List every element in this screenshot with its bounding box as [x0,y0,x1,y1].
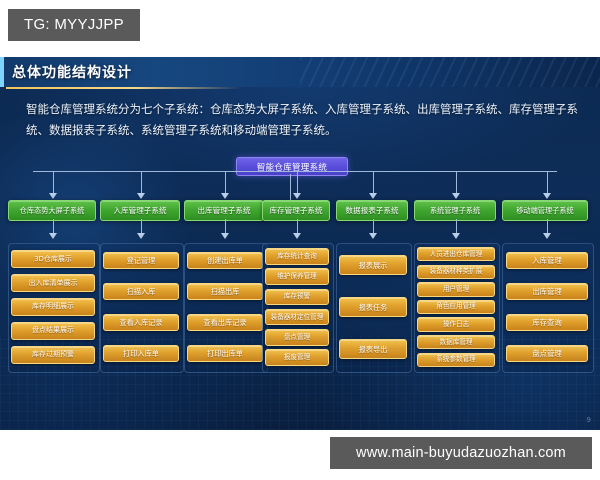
connector-bus-to-subsystem [373,171,374,194]
leaf-item[interactable]: 查看入库记录 [103,314,179,331]
leaf-item[interactable]: 人员进出仓库管理 [417,247,495,261]
leaf-item[interactable]: 登记管理 [103,252,179,269]
leaf-item[interactable]: 报表导出 [339,339,407,359]
leaf-item[interactable]: 盘点管理 [506,345,588,362]
arrow-down-icon [293,193,301,199]
leaf-item[interactable]: 打印入库单 [103,345,179,362]
subsystem-box-4[interactable]: 库存管理子系统 [262,200,330,221]
slide-description: 智能仓库管理系统分为七个子系统：仓库态势大屏子系统、入库管理子系统、出库管理子系… [26,99,578,141]
leaf-item[interactable]: 扫描出库 [187,283,263,300]
leaf-item[interactable]: 装备器材种类扩展 [417,265,495,279]
telegram-watermark: TG: MYYJJPP [8,9,140,41]
arrow-down-icon [369,233,377,239]
connector-bus-to-subsystem [225,171,226,194]
leaf-item[interactable]: 用户管理 [417,282,495,296]
leaf-item[interactable]: 库存过期预警 [11,346,95,364]
connector-subsystem-to-panel [547,219,548,234]
connector-bus-to-subsystem [53,171,54,194]
subsystem-box-7[interactable]: 移动端管理子系统 [502,200,588,221]
arrow-down-icon [452,193,460,199]
subsystem-box-2[interactable]: 入库管理子系统 [100,200,180,221]
site-watermark: www.main-buyudazuozhan.com [330,437,592,469]
arrow-down-icon [49,233,57,239]
leaf-item[interactable]: 打印出库单 [187,345,263,362]
leaf-item[interactable]: 库存明细展示 [11,298,95,316]
leaf-item[interactable]: 装备器材定位管理 [265,309,329,326]
connector-root-vertical [290,174,291,201]
subsystem-box-6[interactable]: 系统管理子系统 [414,200,496,221]
leaf-item[interactable]: 出库管理 [506,283,588,300]
connector-subsystem-to-panel [53,219,54,234]
connector-subsystem-to-panel [456,219,457,234]
arrow-down-icon [293,233,301,239]
leaf-item[interactable]: 库存预警 [265,289,329,306]
leaf-item[interactable]: 角色应用管理 [417,300,495,314]
leaf-item[interactable]: 3D仓库展示 [11,250,95,268]
arrow-down-icon [369,193,377,199]
leaf-item[interactable]: 系统参数管理 [417,353,495,367]
slide-page-number: 9 [587,416,591,424]
connector-subsystem-to-panel [225,219,226,234]
leaf-item[interactable]: 维护保养管理 [265,268,329,285]
leaf-item[interactable]: 盘点管理 [265,329,329,346]
presentation-slide: 总体功能结构设计 智能仓库管理系统分为七个子系统：仓库态势大屏子系统、入库管理子… [0,57,600,430]
leaf-item[interactable]: 查看出库记录 [187,314,263,331]
arrow-down-icon [137,233,145,239]
page-title: 总体功能结构设计 [12,62,132,82]
leaf-item[interactable]: 库存统计查询 [265,248,329,265]
connector-subsystem-to-panel [297,219,298,234]
subsystem-box-1[interactable]: 仓库态势大屏子系统 [8,200,96,221]
arrow-down-icon [221,233,229,239]
connector-subsystem-to-panel [141,219,142,234]
leaf-item[interactable]: 盘点结果展示 [11,322,95,340]
subsystem-box-5[interactable]: 数据报表子系统 [336,200,408,221]
subsystem-row: 仓库态势大屏子系统入库管理子系统出库管理子系统库存管理子系统数据报表子系统系统管… [0,200,600,220]
slide-title-bar: 总体功能结构设计 [0,57,600,87]
leaf-item[interactable]: 报表任务 [339,297,407,317]
connector-bus-to-subsystem [547,171,548,194]
connector-bus-to-subsystem [141,171,142,194]
arrow-down-icon [221,193,229,199]
leaf-item[interactable]: 库存查询 [506,314,588,331]
arrow-down-icon [543,193,551,199]
leaf-item[interactable]: 创建出库单 [187,252,263,269]
leaf-item[interactable]: 入库管理 [506,252,588,269]
arrow-down-icon [137,193,145,199]
leaf-item[interactable]: 报表展示 [339,255,407,275]
subsystem-box-3[interactable]: 出库管理子系统 [184,200,264,221]
leaf-item[interactable]: 扫描入库 [103,283,179,300]
arrow-down-icon [543,233,551,239]
connector-bus-to-subsystem [297,171,298,194]
title-bar-pattern [300,57,600,87]
connector-bus-to-subsystem [456,171,457,194]
leaf-item[interactable]: 数据库管理 [417,335,495,349]
leaf-item[interactable]: 报废管理 [265,349,329,366]
diagram-root-node: 智能仓库管理系统 [236,157,348,176]
connector-horizontal-bus [33,171,557,172]
title-underline [6,87,241,89]
title-accent-bar [0,57,4,87]
leaf-item[interactable]: 操作日志 [417,317,495,331]
arrow-down-icon [49,193,57,199]
arrow-down-icon [452,233,460,239]
connector-subsystem-to-panel [373,219,374,234]
leaf-item[interactable]: 出入库清单展示 [11,274,95,292]
screenshot-root: TG: MYYJJPP 总体功能结构设计 智能仓库管理系统分为七个子系统：仓库态… [0,0,600,480]
